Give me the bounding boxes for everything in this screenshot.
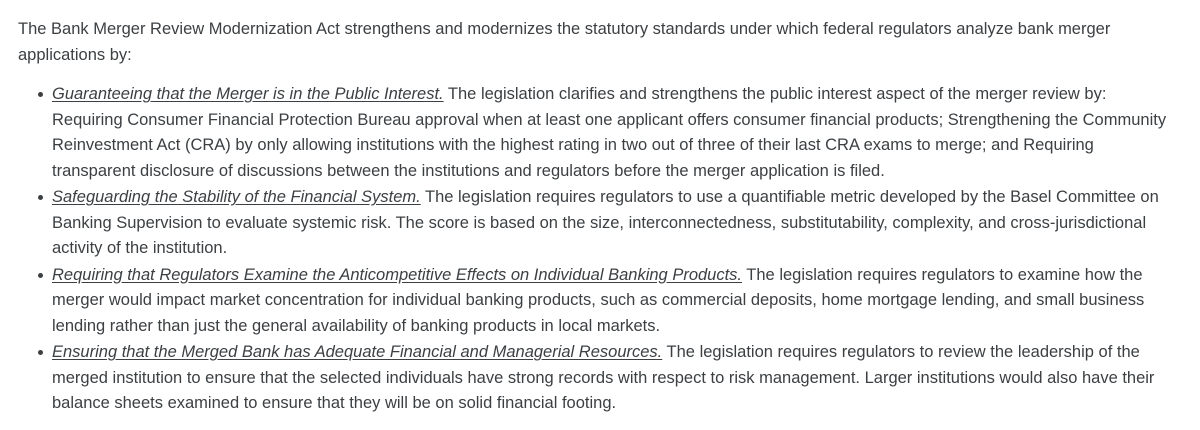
list-item-lead-in: Safeguarding the Stability of the Financ…	[52, 188, 421, 206]
provisions-list: Guaranteeing that the Merger is in the P…	[14, 82, 1178, 417]
list-item: Requiring that Regulators Examine the An…	[14, 263, 1178, 340]
list-item: Guaranteeing that the Merger is in the P…	[14, 82, 1178, 184]
list-item: Safeguarding the Stability of the Financ…	[14, 185, 1178, 262]
list-item: Ensuring that the Merged Bank has Adequa…	[14, 340, 1178, 417]
list-item-lead-in: Guaranteeing that the Merger is in the P…	[52, 85, 444, 103]
list-item-lead-in: Requiring that Regulators Examine the An…	[52, 266, 742, 284]
list-item-lead-in: Ensuring that the Merged Bank has Adequa…	[52, 343, 662, 361]
document-page: The Bank Merger Review Modernization Act…	[0, 0, 1200, 430]
intro-paragraph: The Bank Merger Review Modernization Act…	[14, 16, 1178, 68]
